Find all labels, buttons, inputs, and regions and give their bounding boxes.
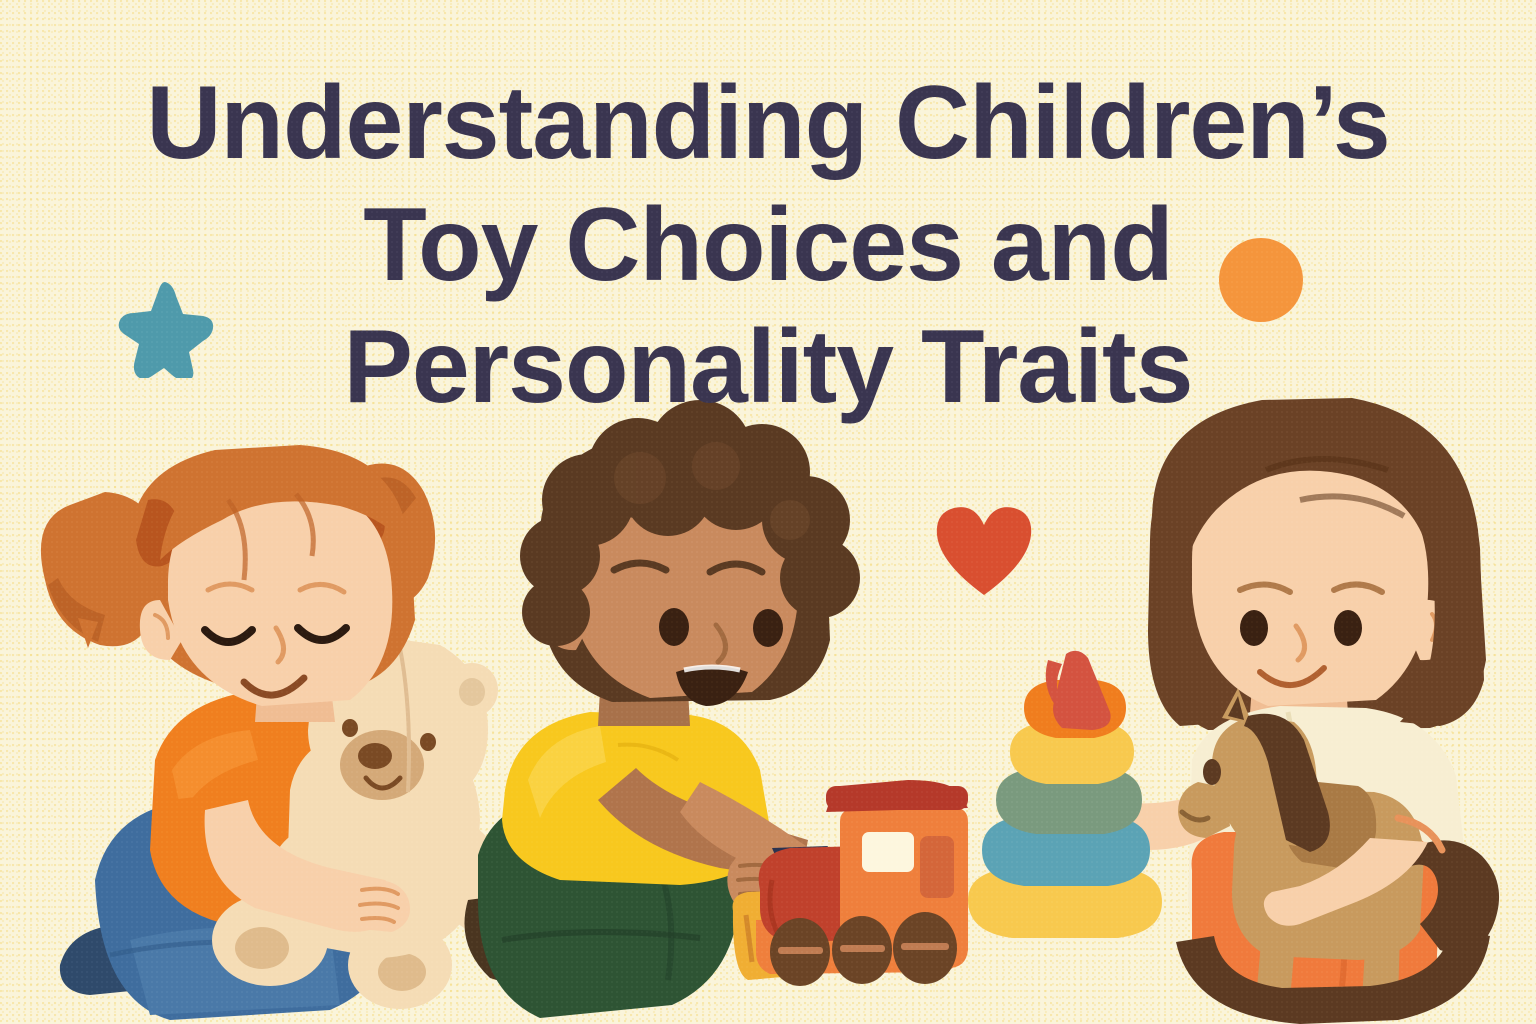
ring-stacker — [968, 651, 1162, 938]
title-line-1: Understanding Children’s — [0, 62, 1536, 184]
heart-icon — [934, 505, 1034, 597]
child-left-group — [41, 445, 503, 1020]
title-line-3: Personality Traits — [0, 306, 1536, 428]
page-title: Understanding Children’s Toy Choices and… — [0, 62, 1536, 428]
title-line-2: Toy Choices and — [0, 184, 1536, 306]
poster-canvas: Understanding Children’s Toy Choices and… — [0, 0, 1536, 1024]
toy-train — [733, 780, 968, 986]
child-middle-group — [464, 400, 968, 1018]
child-right-group — [968, 398, 1499, 1024]
